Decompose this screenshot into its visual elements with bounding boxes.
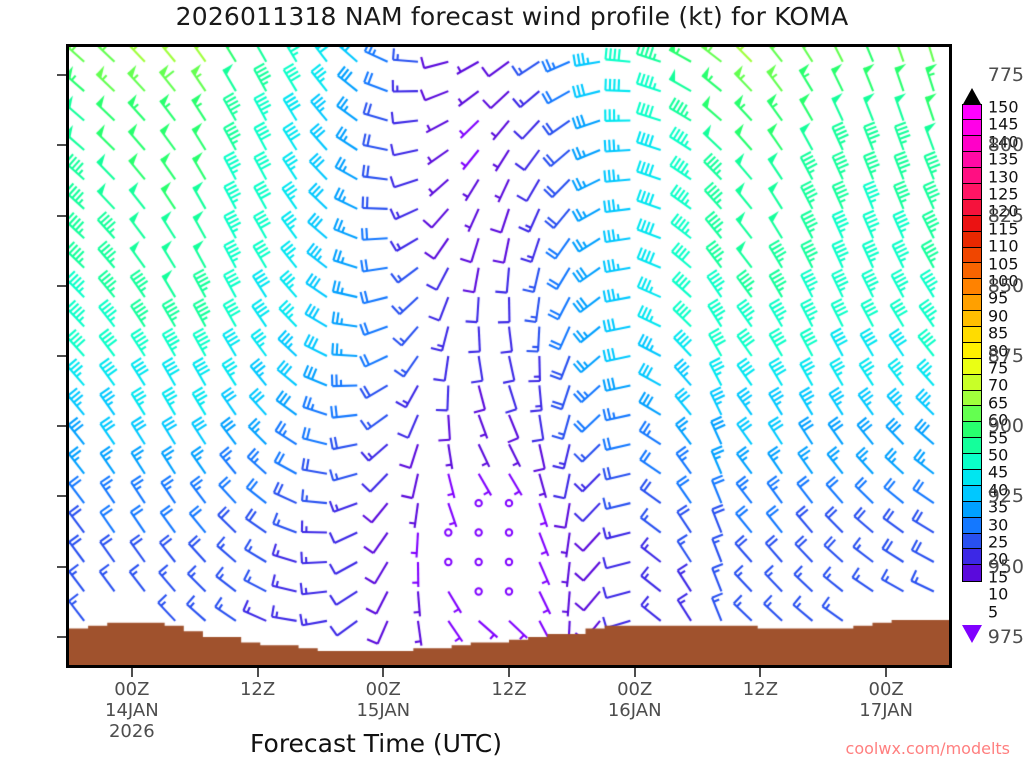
colorbar-cell <box>962 437 982 454</box>
x-axis-tick-time: 00Z <box>356 679 410 700</box>
x-axis-tick-label: 12Z <box>491 679 526 700</box>
terrain-fill <box>69 47 949 665</box>
colorbar-tick-label: 45 <box>988 463 1008 482</box>
x-axis-tick-time: 00Z <box>608 679 662 700</box>
y-axis-tick-label: 825 <box>976 205 1024 227</box>
x-axis-tick-mark <box>257 668 259 677</box>
x-axis-tick-year: 2026 <box>105 721 159 742</box>
colorbar-cell <box>962 294 982 311</box>
colorbar-cell <box>962 231 982 248</box>
colorbar-cell <box>962 390 982 407</box>
y-axis-tick-label: 850 <box>976 275 1024 297</box>
x-axis-tick-time: 12Z <box>240 679 275 700</box>
colorbar-tick-label: 30 <box>988 515 1008 534</box>
colorbar-cell <box>962 469 982 486</box>
y-axis-tick-label: 950 <box>976 556 1024 578</box>
y-axis-tick-label: 900 <box>976 415 1024 437</box>
colorbar-tick-label: 90 <box>988 306 1008 325</box>
y-axis-tick-mark <box>57 74 66 76</box>
x-axis-tick-mark <box>634 668 636 677</box>
x-axis-tick-time: 00Z <box>859 679 913 700</box>
colorbar-cell <box>962 517 982 534</box>
colorbar-tick-label: 110 <box>988 237 1019 256</box>
colorbar-tick-label: 70 <box>988 376 1008 395</box>
x-axis-tick-label: 12Z <box>743 679 778 700</box>
colorbar-tick-label: 105 <box>988 254 1019 273</box>
x-axis-tick-label: 00Z15JAN <box>356 679 410 721</box>
x-axis-tick-time: 12Z <box>491 679 526 700</box>
x-axis-tick-mark <box>759 668 761 677</box>
y-axis-tick-mark <box>57 144 66 146</box>
y-axis-tick-mark <box>57 425 66 427</box>
x-axis-tick-label: 00Z14JAN2026 <box>105 679 159 742</box>
colorbar-tick-label: 25 <box>988 533 1008 552</box>
x-axis-tick-label: 00Z17JAN <box>859 679 913 721</box>
x-axis-tick-date: 16JAN <box>608 700 662 721</box>
y-axis-tick-mark <box>57 355 66 357</box>
y-axis-tick-mark <box>57 636 66 638</box>
plot-area <box>66 44 952 668</box>
watermark: coolwx.com/modelts <box>846 739 1010 758</box>
colorbar-tick-label: 10 <box>988 585 1008 604</box>
x-axis-tick-time: 12Z <box>743 679 778 700</box>
colorbar-cell <box>962 183 982 200</box>
colorbar-tick-label: 50 <box>988 446 1008 465</box>
y-axis-tick-mark <box>57 566 66 568</box>
x-axis-tick-label: 12Z <box>240 679 275 700</box>
colorbar-cell <box>962 533 982 550</box>
colorbar-tick-label: 85 <box>988 324 1008 343</box>
y-axis-tick-label: 775 <box>976 64 1024 86</box>
colorbar-tick-label: 150 <box>988 98 1019 117</box>
x-axis-tick-date: 17JAN <box>859 700 913 721</box>
y-axis-tick-label: 925 <box>976 485 1024 507</box>
x-axis-tick-time: 00Z <box>105 679 159 700</box>
y-axis-tick-label: 875 <box>976 345 1024 367</box>
y-axis-tick-label: 800 <box>976 134 1024 156</box>
y-axis-tick-mark <box>57 285 66 287</box>
colorbar-cell <box>962 374 982 391</box>
wind-profile-chart: 2026011318 NAM forecast wind profile (kt… <box>0 0 1024 768</box>
colorbar-cells <box>962 105 982 582</box>
colorbar-cell <box>962 247 982 264</box>
colorbar-tick-label: 145 <box>988 115 1019 134</box>
y-axis-tick-mark <box>57 215 66 217</box>
colorbar-cell <box>962 326 982 343</box>
colorbar-cell <box>962 310 982 327</box>
page-title: 2026011318 NAM forecast wind profile (kt… <box>0 2 1024 31</box>
x-axis-tick-label: 00Z16JAN <box>608 679 662 721</box>
x-axis-tick-mark <box>131 668 133 677</box>
x-axis-tick-mark <box>885 668 887 677</box>
x-axis-tick-mark <box>508 668 510 677</box>
x-axis-tick-date: 14JAN <box>105 700 159 721</box>
colorbar-cell <box>962 104 982 121</box>
colorbar-tick-label: 5 <box>988 602 998 621</box>
colorbar-tick-label: 125 <box>988 185 1019 204</box>
colorbar-tick-label: 65 <box>988 393 1008 412</box>
y-axis-tick-mark <box>57 495 66 497</box>
colorbar-cell <box>962 453 982 470</box>
x-axis-tick-mark <box>382 668 384 677</box>
y-axis-tick-label: 975 <box>976 626 1024 648</box>
colorbar-tick-label: 130 <box>988 167 1019 186</box>
colorbar-cell <box>962 167 982 184</box>
x-axis-tick-date: 15JAN <box>356 700 410 721</box>
x-axis-title: Forecast Time (UTC) <box>66 729 686 758</box>
